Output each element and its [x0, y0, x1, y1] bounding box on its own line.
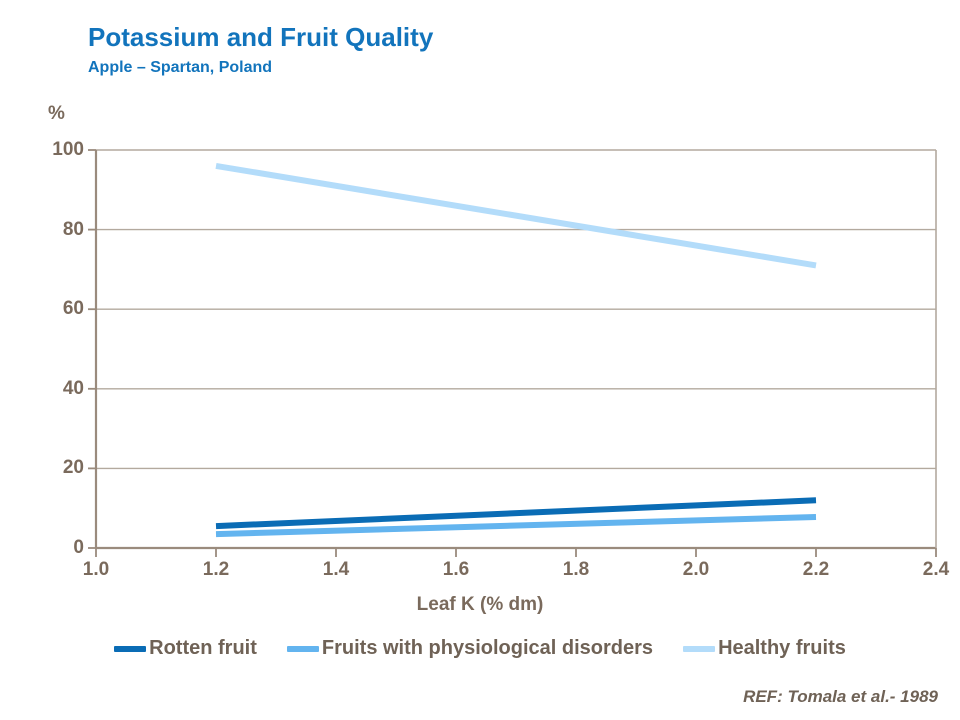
x-tick-label-1.0: 1.0 [56, 560, 136, 579]
y-tick-label-40: 40 [24, 379, 84, 398]
y-tick-label-80: 80 [24, 220, 84, 239]
legend-swatch-icon-1 [287, 646, 319, 652]
legend-item-1[interactable]: Fruits with physiological disorders [287, 637, 653, 660]
chart-legend: Rotten fruitFruits with physiological di… [0, 637, 960, 660]
legend-label-0: Rotten fruit [149, 637, 257, 660]
x-tick-label-1.4: 1.4 [296, 560, 376, 579]
legend-swatch-icon-2 [683, 646, 715, 652]
legend-item-2[interactable]: Healthy fruits [683, 637, 846, 660]
x-tick-label-2.4: 2.4 [896, 560, 960, 579]
tick-marks-group [88, 150, 936, 557]
legend-item-0[interactable]: Rotten fruit [114, 637, 257, 660]
y-tick-label-100: 100 [24, 140, 84, 159]
axis-lines-group [96, 150, 936, 548]
x-axis-title: Leaf K (% dm) [0, 594, 960, 616]
x-tick-label-1.2: 1.2 [176, 560, 256, 579]
y-tick-label-0: 0 [24, 538, 84, 557]
x-tick-label-2.2: 2.2 [776, 560, 856, 579]
y-axis-tick-labels: 020406080100 [22, 0, 84, 560]
x-tick-label-1.6: 1.6 [416, 560, 496, 579]
legend-label-1: Fruits with physiological disorders [322, 637, 653, 660]
x-tick-label-2.0: 2.0 [656, 560, 736, 579]
legend-label-2: Healthy fruits [718, 637, 846, 660]
y-tick-label-60: 60 [24, 299, 84, 318]
series-line-2 [216, 166, 816, 266]
legend-swatch-icon-0 [114, 646, 146, 652]
data-series-group [216, 166, 816, 534]
y-tick-label-20: 20 [24, 458, 84, 477]
x-tick-label-1.8: 1.8 [536, 560, 616, 579]
reference-note: REF: Tomala et al.- 1989 [743, 687, 938, 707]
chart-container: Potassium and Fruit Quality Apple – Spar… [0, 0, 960, 720]
gridlines-group [96, 150, 936, 548]
